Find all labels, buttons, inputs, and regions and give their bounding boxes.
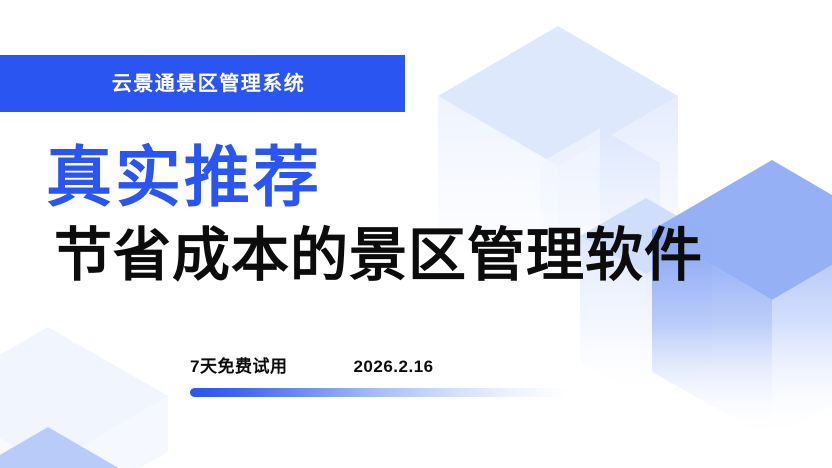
accent-bar	[190, 388, 568, 397]
brand-name: 云景通景区管理系统	[100, 74, 306, 94]
headline-secondary: 节省成本的景区管理软件	[54, 225, 786, 286]
headline-block: 真实推荐 节省成本的景区管理软件	[46, 143, 786, 286]
brand-banner: 云景通景区管理系统	[0, 55, 405, 112]
date-label: 2026.2.16	[353, 357, 433, 377]
free-trial-label: 7天免费试用	[190, 352, 287, 377]
promo-poster: 云景通景区管理系统 真实推荐 节省成本的景区管理软件 7天免费试用 2026.2…	[0, 0, 832, 468]
headline-primary: 真实推荐	[46, 143, 786, 213]
meta-row: 7天免费试用 2026.2.16	[190, 352, 590, 377]
isometric-cube-bottom-icon	[0, 427, 122, 468]
isometric-cube-corner-icon	[0, 327, 168, 468]
